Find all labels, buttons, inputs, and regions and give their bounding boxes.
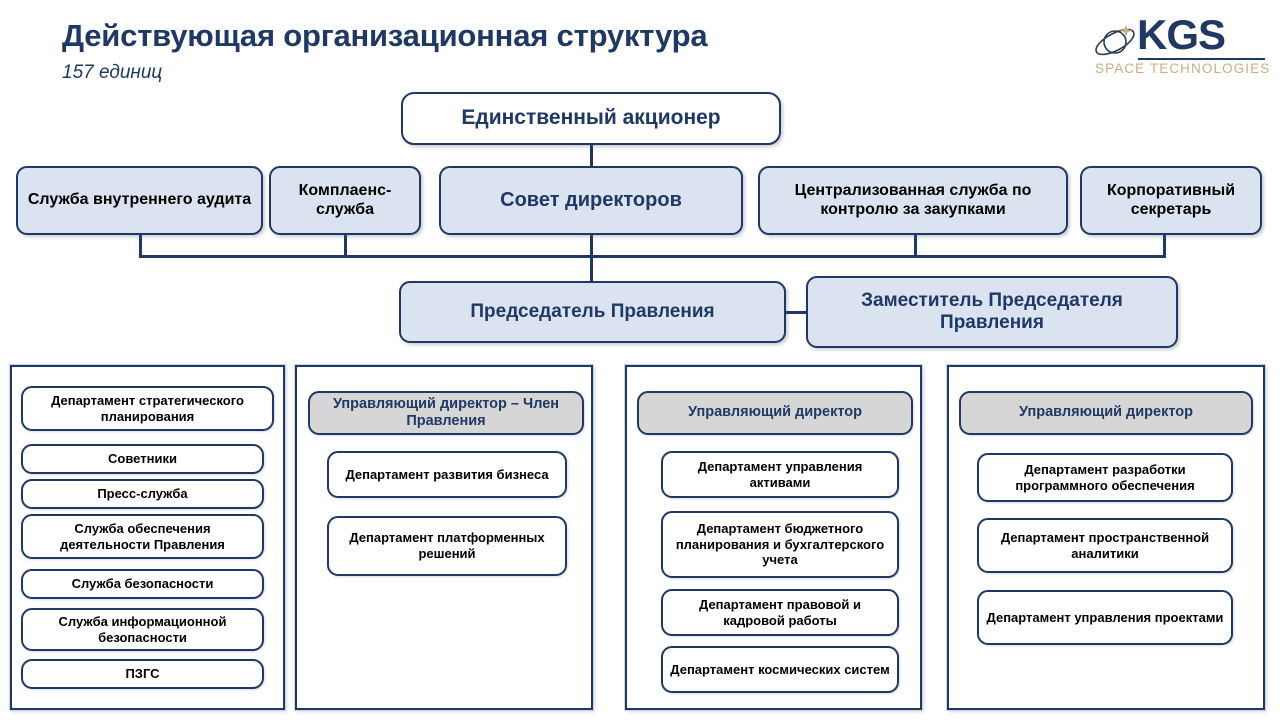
leaf-label: Департамент развития бизнеса (345, 467, 548, 483)
page-subtitle: 157 единиц (62, 62, 162, 84)
leaf-business-development-department[interactable]: Департамент развития бизнеса (327, 451, 567, 498)
node-corporate-secretary[interactable]: Корпоративный секретарь (1080, 166, 1262, 235)
leaf-project-management-department[interactable]: Департамент управления проектами (977, 590, 1233, 645)
node-internal-audit-service[interactable]: Служба внутреннего аудита (16, 166, 263, 235)
node-deputy-chairman-of-the-board[interactable]: Заместитель Председателя Правления (806, 276, 1178, 348)
logo-divider (1138, 58, 1265, 60)
column-head-label: Управляющий директор (688, 404, 862, 421)
leaf-label: Департамент стратегического планирования (30, 393, 265, 424)
node-label: Заместитель Председателя Правления (814, 290, 1170, 335)
column-head-managing-director-assets[interactable]: Управляющий директор (637, 391, 913, 435)
node-label: Централизованная служба по контролю за з… (766, 182, 1060, 220)
leaf-label: Служба информационной безопасности (30, 614, 255, 645)
leaf-asset-management-department[interactable]: Департамент управления активами (661, 451, 899, 498)
leaf-security-service[interactable]: Служба безопасности (21, 569, 264, 599)
connector-bus-level2 (139, 255, 1166, 258)
column-head-label: Управляющий директор (1019, 404, 1193, 421)
column-head-managing-director-board-member[interactable]: Управляющий директор – Член Правления (308, 391, 584, 435)
leaf-label: Департамент бюджетного планирования и бу… (670, 521, 890, 568)
node-chairman-of-the-board[interactable]: Председатель Правления (399, 281, 786, 343)
node-label: Единственный акционер (461, 106, 720, 131)
connector-stub-compliance (344, 235, 347, 257)
node-label: Комплаенс-служба (277, 182, 413, 220)
leaf-platform-solutions-department[interactable]: Департамент платформенных решений (327, 516, 567, 576)
connector-stub-board (590, 235, 593, 257)
logo-tagline: SPACE TECHNOLOGIES (1095, 61, 1265, 76)
leaf-label: ПЗГС (125, 666, 159, 682)
leaf-legal-hr-department[interactable]: Департамент правовой и кадровой работы (661, 589, 899, 636)
leaf-pzgs[interactable]: ПЗГС (21, 659, 264, 689)
node-sole-shareholder[interactable]: Единственный акционер (401, 92, 781, 145)
connector-stub-procurement (914, 235, 917, 257)
leaf-label: Департамент пространственной аналитики (986, 530, 1224, 561)
leaf-label: Департамент правовой и кадровой работы (670, 597, 890, 628)
node-board-of-directors[interactable]: Совет директоров (439, 166, 743, 235)
leaf-label: Департамент управления проектами (987, 610, 1224, 626)
leaf-label: Служба безопасности (72, 576, 214, 592)
node-label: Председатель Правления (470, 301, 714, 323)
leaf-information-security-service[interactable]: Служба информационной безопасности (21, 608, 264, 651)
connector-stub-corporate-secretary (1163, 235, 1166, 257)
node-label: Корпоративный секретарь (1088, 182, 1254, 220)
connector-bus-to-chairman (590, 255, 593, 283)
node-compliance-service[interactable]: Комплаенс-служба (269, 166, 421, 235)
leaf-strategic-planning-department[interactable]: Департамент стратегического планирования (21, 386, 274, 431)
node-label: Совет директоров (500, 189, 682, 213)
leaf-label: Департамент платформенных решений (336, 530, 558, 561)
logo-wordmark: KGS (1137, 14, 1225, 56)
leaf-spatial-analytics-department[interactable]: Департамент пространственной аналитики (977, 518, 1233, 573)
org-chart-slide: Действующая организационная структура 15… (0, 0, 1280, 720)
leaf-space-systems-department[interactable]: Департамент космических систем (661, 646, 899, 693)
leaf-press-service[interactable]: Пресс-служба (21, 479, 264, 509)
leaf-board-support-service[interactable]: Служба обеспечения деятельности Правлени… (21, 514, 264, 559)
leaf-label: Советники (108, 451, 177, 467)
leaf-label: Служба обеспечения деятельности Правлени… (30, 521, 255, 552)
leaf-label: Департамент управления активами (670, 459, 890, 490)
leaf-label: Департамент космических систем (670, 662, 889, 678)
leaf-label: Пресс-служба (97, 486, 187, 502)
node-centralized-procurement-control[interactable]: Централизованная служба по контролю за з… (758, 166, 1068, 235)
connector-chairman-to-deputy (785, 311, 807, 314)
leaf-label: Департамент разработки программного обес… (986, 462, 1224, 493)
kgs-logo: KGS SPACE TECHNOLOGIES (1093, 8, 1265, 78)
leaf-advisors[interactable]: Советники (21, 444, 264, 474)
node-label: Служба внутреннего аудита (28, 191, 251, 210)
column-head-label: Управляющий директор – Член Правления (316, 396, 576, 431)
connector-stub-internal-audit (139, 235, 142, 257)
leaf-software-development-department[interactable]: Департамент разработки программного обес… (977, 453, 1233, 502)
page-title: Действующая организационная структура (62, 18, 707, 54)
planet-orbit-icon (1093, 20, 1139, 60)
column-head-managing-director-software[interactable]: Управляющий директор (959, 391, 1253, 435)
leaf-budget-planning-accounting-department[interactable]: Департамент бюджетного планирования и бу… (661, 511, 899, 578)
